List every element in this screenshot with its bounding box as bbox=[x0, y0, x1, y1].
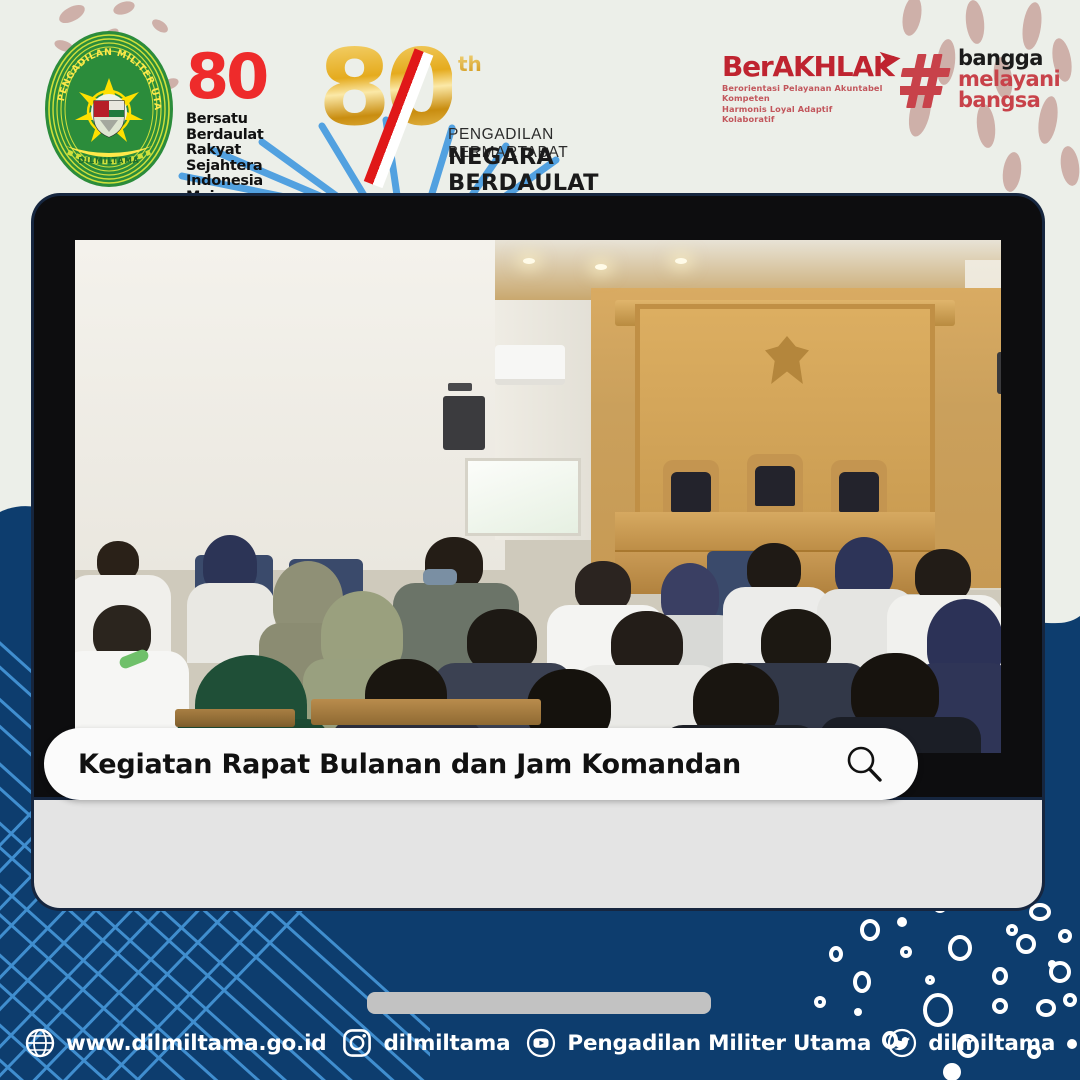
berakhlak-suffix: AKHLAK bbox=[773, 50, 894, 83]
bangga-line-3: bangsa bbox=[958, 90, 1040, 111]
svg-text:DILMILTAMA: DILMILTAMA bbox=[78, 156, 139, 165]
footer-item-twitter[interactable]: dilmiltama bbox=[887, 1028, 1055, 1058]
header: PENGADILAN MILITER UTAMA DILMILTAMA 80 bbox=[0, 0, 1080, 200]
anniversary-red-number: 80 bbox=[186, 46, 301, 108]
audience bbox=[75, 513, 1001, 753]
bangga-melayani-bangsa-logo: bangga melayani bangsa bbox=[900, 46, 1060, 116]
search-bar[interactable]: Kegiatan Rapat Bulanan dan Jam Komandan bbox=[44, 728, 918, 800]
monitor-chin bbox=[34, 800, 1042, 908]
footer-label-twitter: dilmiltama bbox=[928, 1031, 1055, 1056]
twitter-icon bbox=[887, 1028, 917, 1058]
anniversary-tagline-2: Rakyat Sejahtera bbox=[186, 143, 301, 174]
footer-label-youtube: Pengadilan Militer Utama bbox=[567, 1031, 871, 1056]
hashtag-icon bbox=[900, 52, 956, 110]
gold-caption-big: NEGARA BERDAULAT bbox=[448, 144, 638, 196]
search-input[interactable]: Kegiatan Rapat Bulanan dan Jam Komandan bbox=[78, 749, 741, 780]
footer-label-website: www.dilmiltama.go.id bbox=[66, 1031, 327, 1056]
footer-social-bar: www.dilmiltama.go.id dilmiltama Pengadil… bbox=[0, 1006, 1080, 1080]
anniversary-tagline-1: Bersatu Berdaulat bbox=[186, 112, 301, 143]
footer-item-youtube[interactable]: Pengadilan Militer Utama bbox=[526, 1028, 871, 1058]
footer-label-instagram: dilmiltama bbox=[383, 1031, 510, 1056]
footer-item-website[interactable]: www.dilmiltama.go.id bbox=[25, 1028, 327, 1058]
berakhlak-logo: BerAKHLAK ➤ Berorientasi Pelayanan Akunt… bbox=[722, 52, 887, 112]
air-conditioner bbox=[495, 345, 565, 385]
meeting-photo bbox=[75, 240, 1001, 753]
wall-speaker-right bbox=[997, 352, 1001, 394]
globe-icon bbox=[25, 1028, 55, 1058]
anniversary-gold-logo: 80 th PENGADILAN BERMARTABAT NEGARA BERD… bbox=[318, 36, 638, 171]
search-icon[interactable] bbox=[844, 744, 884, 784]
bangga-line-1: bangga bbox=[958, 48, 1043, 69]
monitor-screen bbox=[75, 240, 1001, 753]
berakhlak-subtitle-2: Harmonis Loyal Adaptif Kolaboratif bbox=[722, 104, 887, 124]
poster-canvas: PENGADILAN MILITER UTAMA DILMILTAMA 80 bbox=[0, 0, 1080, 1080]
anniversary-gold-superscript: th bbox=[458, 52, 482, 76]
youtube-icon bbox=[526, 1028, 556, 1058]
bangga-line-2: melayani bbox=[958, 69, 1060, 90]
anniversary-red-logo: 80 Bersatu Berdaulat Rakyat Sejahtera In… bbox=[186, 46, 301, 171]
footer-item-instagram[interactable]: dilmiltama bbox=[342, 1028, 510, 1058]
instagram-icon bbox=[342, 1028, 372, 1058]
berakhlak-prefix: Ber bbox=[722, 50, 773, 83]
court-seal-icon: PENGADILAN MILITER UTAMA DILMILTAMA bbox=[42, 28, 176, 190]
wall-speaker bbox=[443, 396, 485, 450]
berakhlak-subtitle-1: Berorientasi Pelayanan Akuntabel Kompete… bbox=[722, 83, 887, 103]
